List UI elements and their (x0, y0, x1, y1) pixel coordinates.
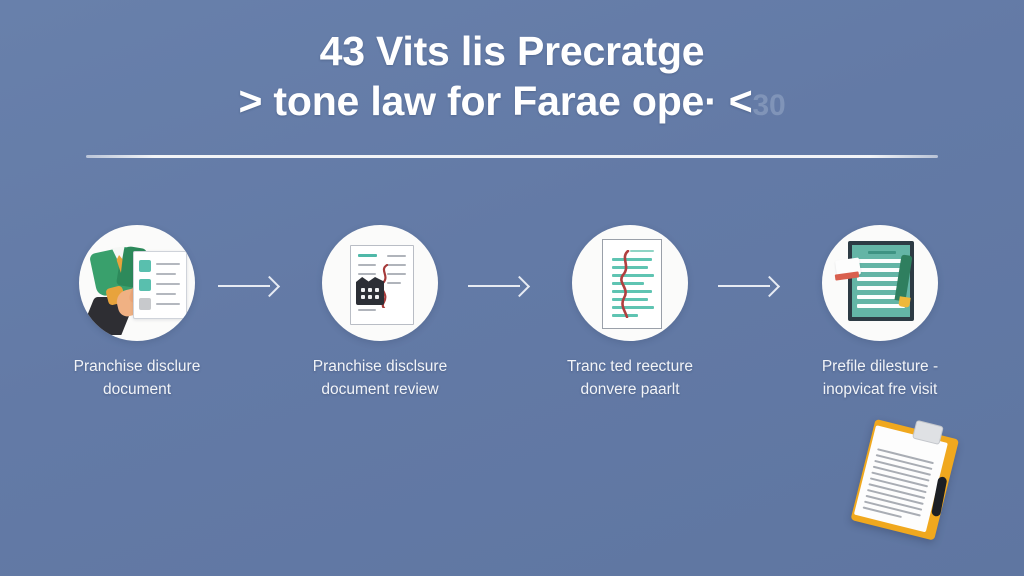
process-steps: Pranchise disclure document (0, 225, 1024, 415)
step-4-caption: Prefile dilesture - inopvicat fre visit (755, 355, 1005, 401)
step-3-icon-circle (572, 225, 688, 341)
step-3-caption: Tranc ted reecture donvere paarlt (505, 355, 755, 401)
arrow-step-3-to-4 (718, 275, 784, 297)
step-1-caption-line-2: document (26, 378, 248, 401)
step-1-caption-line-1: Pranchise disclure (26, 355, 248, 378)
title-suffix: 30 (753, 89, 786, 122)
title-line-2-text: > tone law for Farae ope· < (238, 78, 752, 124)
step-4-caption-line-2: inopvicat fre visit (769, 378, 991, 401)
step-2-caption: Pranchise disclsure document review (255, 355, 505, 401)
arrow-step-2-to-3 (468, 275, 534, 297)
step-2-icon-circle (322, 225, 438, 341)
page-title: 43 Vits lis Precratge > tone law for Far… (0, 26, 1024, 131)
title-divider (86, 155, 938, 158)
step-2-caption-line-1: Pranchise disclsure (269, 355, 491, 378)
step-1-icon-circle (79, 225, 195, 341)
red-squiggle-icon (616, 250, 636, 318)
arrow-step-1-to-2 (218, 275, 284, 297)
step-3-caption-line-1: Tranc ted reecture (519, 355, 741, 378)
step-2-caption-line-2: document review (269, 378, 491, 401)
step-4-caption-line-1: Prefile dilesture - (769, 355, 991, 378)
infographic-canvas: 43 Vits lis Precratge > tone law for Far… (0, 0, 1024, 576)
step-4-icon-circle (822, 225, 938, 341)
title-line-1: 43 Vits lis Precratge (0, 26, 1024, 76)
step-3[interactable]: Tranc ted reecture donvere paarlt (505, 225, 755, 401)
step-4[interactable]: Prefile dilesture - inopvicat fre visit (755, 225, 1005, 401)
step-1[interactable]: Pranchise disclure document (12, 225, 262, 401)
clipboard-illustration (846, 414, 966, 544)
title-line-2: > tone law for Farae ope· <30 (0, 76, 1024, 131)
step-3-caption-line-2: donvere paarlt (519, 378, 741, 401)
step-2[interactable]: Pranchise disclsure document review (255, 225, 505, 401)
step-1-caption: Pranchise disclure document (12, 355, 262, 401)
